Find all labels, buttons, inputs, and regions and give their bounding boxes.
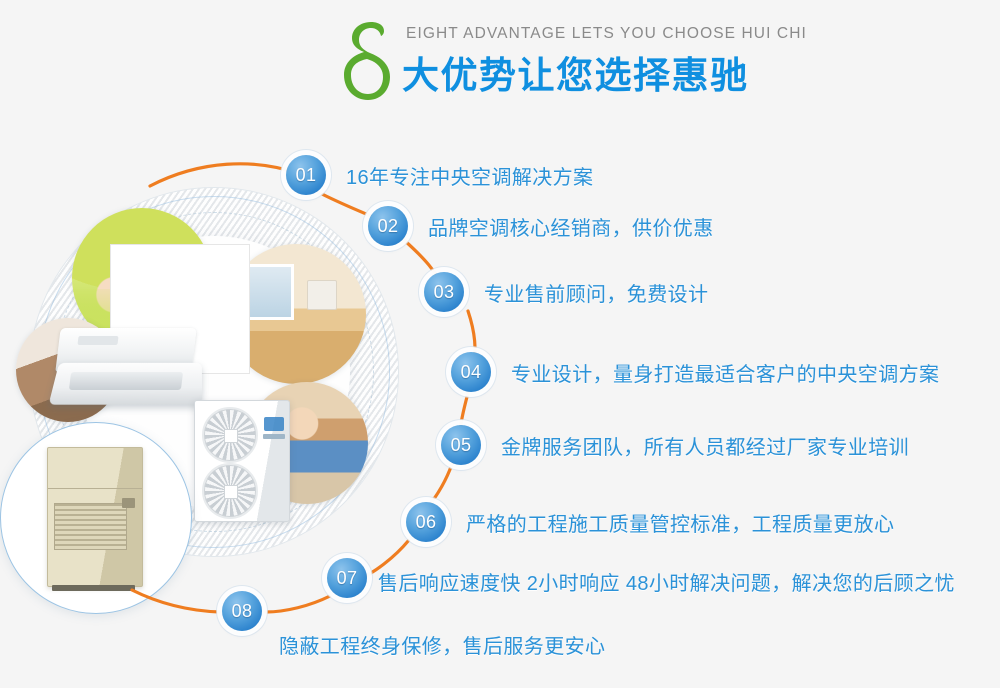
page-title: 大优势让您选择惠驰	[402, 53, 807, 99]
badge-number: 01	[296, 165, 317, 186]
advantage-item-02[interactable]: 02 品牌空调核心经销商，供价优惠	[368, 206, 714, 246]
badge-01: 01	[286, 155, 326, 195]
advantage-item-01[interactable]: 01 16年专注中央空调解决方案	[286, 155, 593, 195]
outdoor-condenser-unit	[194, 400, 290, 522]
badge-number: 07	[337, 568, 358, 589]
badge-02: 02	[368, 206, 408, 246]
badge-number: 05	[451, 435, 472, 456]
badge-number: 03	[434, 282, 455, 303]
advantage-text-01: 16年专注中央空调解决方案	[346, 161, 593, 190]
advantage-item-06[interactable]: 06 严格的工程施工质量管控标准，工程质量更放心	[406, 502, 894, 542]
badge-number: 04	[461, 362, 482, 383]
promo-page: EIGHT ADVANTAGE LETS YOU CHOOSE HUI CHI …	[0, 0, 1000, 688]
advantage-item-08[interactable]: 隐蔽工程终身保修，售后服务更安心	[279, 630, 605, 659]
english-tagline: EIGHT ADVANTAGE LETS YOU CHOOSE HUI CHI	[402, 26, 807, 42]
floor-ac-highlight-circle	[0, 422, 192, 614]
advantage-badge-07[interactable]: 07	[327, 558, 367, 598]
badge-number: 06	[416, 512, 437, 533]
advantage-item-05[interactable]: 05 金牌服务团队，所有人员都经过厂家专业培训	[441, 425, 909, 465]
page-header: EIGHT ADVANTAGE LETS YOU CHOOSE HUI CHI …	[0, 14, 1000, 112]
badge-07: 07	[327, 558, 367, 598]
advantage-item-04[interactable]: 04 专业设计，量身打造最适合客户的中央空调方案	[451, 352, 939, 392]
advantage-badge-08[interactable]: 08	[222, 591, 262, 631]
advantage-item-07[interactable]: 售后响应速度快 2小时响应 48小时解决问题，解决您的后顾之忧	[378, 567, 955, 596]
advantage-text-06: 严格的工程施工质量管控标准，工程质量更放心	[466, 508, 894, 537]
advantage-text-02: 品牌空调核心经销商，供价优惠	[428, 212, 714, 241]
advantage-text-05: 金牌服务团队，所有人员都经过厂家专业培训	[501, 431, 909, 460]
badge-06: 06	[406, 502, 446, 542]
badge-05: 05	[441, 425, 481, 465]
badge-08: 08	[222, 591, 262, 631]
stylized-number-eight-icon	[330, 14, 392, 106]
badge-number: 08	[232, 601, 253, 622]
advantage-text-03: 专业售前顾问，免费设计	[484, 278, 708, 307]
ceiling-cassette-ac	[54, 328, 206, 420]
advantage-text-04: 专业设计，量身打造最适合客户的中央空调方案	[511, 358, 939, 387]
badge-number: 02	[378, 216, 399, 237]
badge-04: 04	[451, 352, 491, 392]
floor-standing-ac	[47, 447, 143, 587]
advantage-text-08: 隐蔽工程终身保修，售后服务更安心	[279, 630, 605, 659]
badge-03: 03	[424, 272, 464, 312]
advantage-text-07: 售后响应速度快 2小时响应 48小时解决问题，解决您的后顾之忧	[378, 567, 955, 596]
product-collage	[0, 170, 394, 600]
advantage-item-03[interactable]: 03 专业售前顾问，免费设计	[424, 272, 708, 312]
